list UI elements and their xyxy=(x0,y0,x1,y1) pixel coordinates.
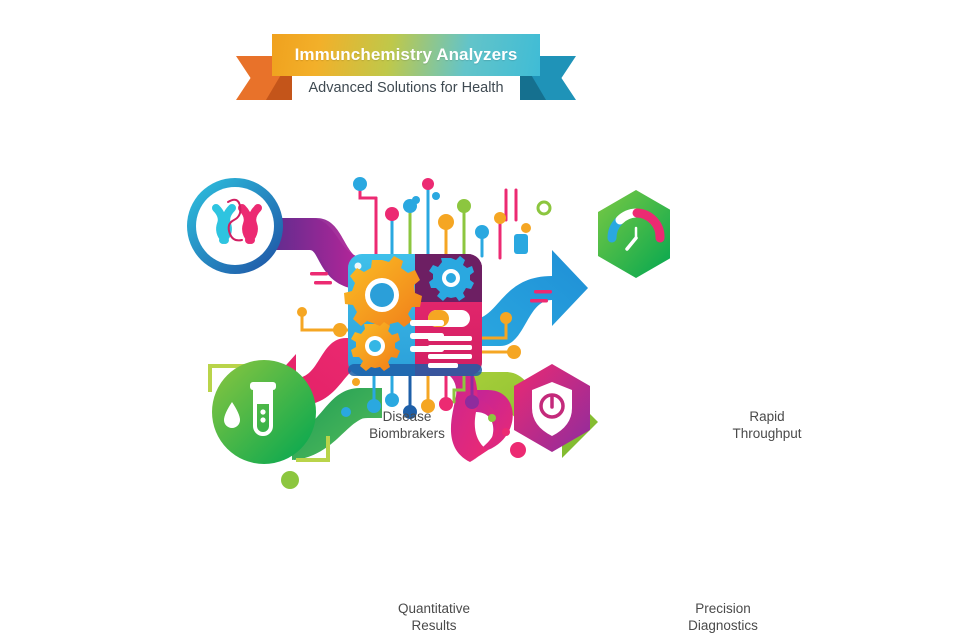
label-line-1: Precision xyxy=(664,600,782,617)
label-precision-diagnostics: Precision Diagnostics xyxy=(664,600,782,634)
banner-title: Immunchemistry Analyzers xyxy=(295,45,518,65)
process-diagram: Disease Biombrakers Rapid Throughput Qua… xyxy=(170,150,670,510)
ribbon-band: Immunchemistry Analyzers xyxy=(272,34,540,76)
label-disease-biomarkers: Disease Biombrakers xyxy=(348,408,466,442)
title-banner: Immunchemistry Analyzers Advanced Soluti… xyxy=(236,30,576,102)
label-line-2: Throughput xyxy=(708,425,826,442)
label-line-1: Disease xyxy=(348,408,466,425)
analyzer-device[interactable] xyxy=(344,254,482,376)
label-line-1: Quantitative xyxy=(375,600,493,617)
infographic-canvas: Immunchemistry Analyzers Advanced Soluti… xyxy=(0,0,960,520)
label-rapid-throughput: Rapid Throughput xyxy=(708,408,826,442)
label-line-1: Rapid xyxy=(708,408,826,425)
label-line-2: Diagnostics xyxy=(664,617,782,634)
banner-subtitle: Advanced Solutions for Health xyxy=(236,80,576,96)
connector-throughput xyxy=(466,250,588,346)
diagram-graphics xyxy=(170,150,670,510)
label-line-2: Biombrakers xyxy=(348,425,466,442)
label-quantitative-results: Quantitative Results xyxy=(375,600,493,634)
label-line-2: Results xyxy=(375,617,493,634)
node-rapid-throughput[interactable] xyxy=(598,190,670,278)
node-disease-biomarkers[interactable] xyxy=(187,178,283,274)
circuit-nodes-top xyxy=(353,177,550,254)
